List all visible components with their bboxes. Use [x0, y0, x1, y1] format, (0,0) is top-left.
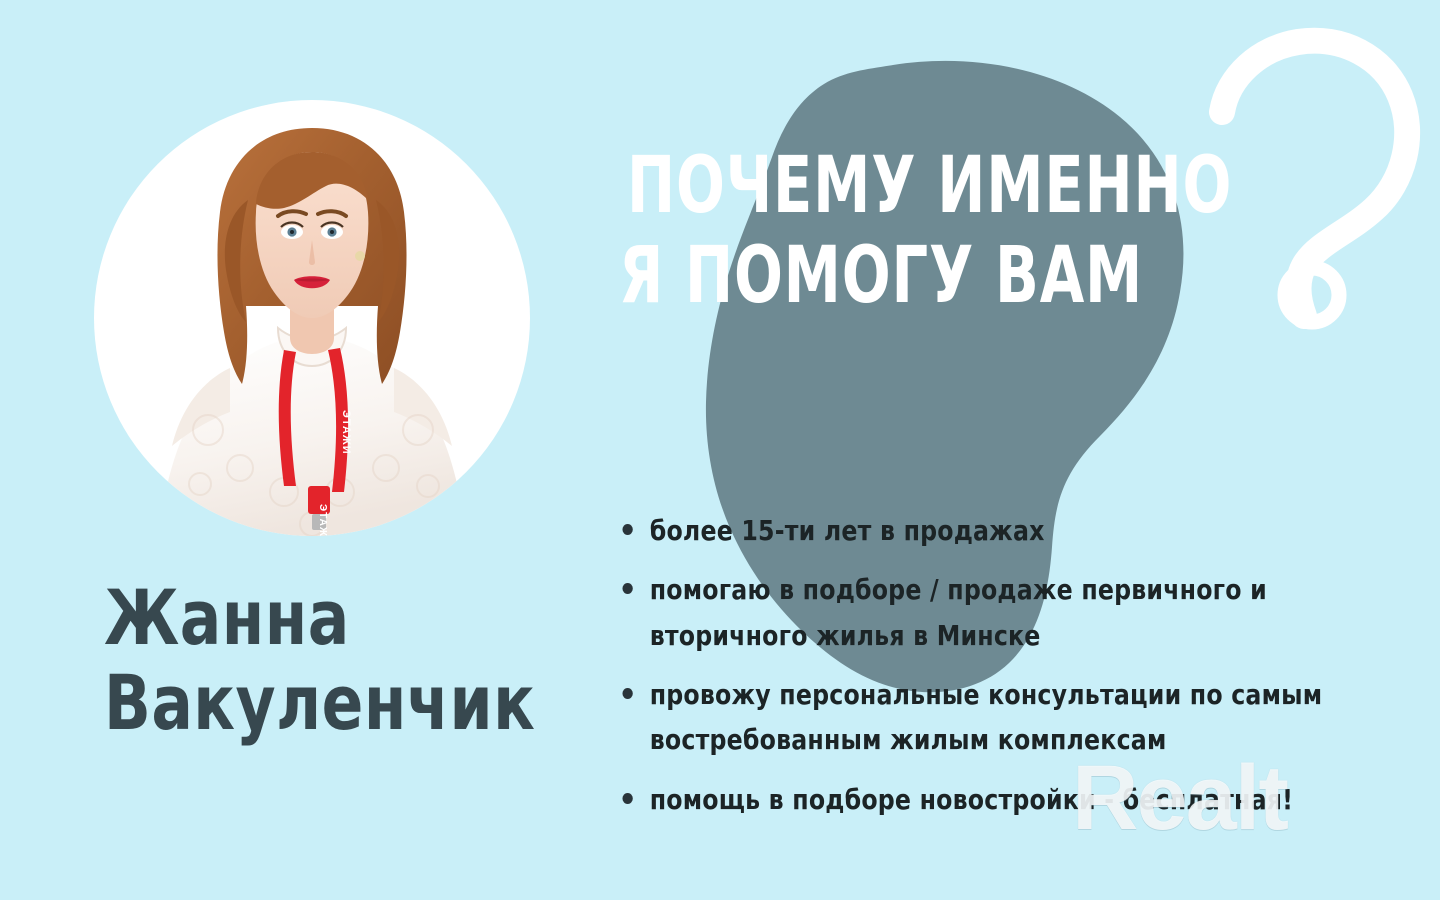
agent-name: Жанна Вакуленчик — [104, 575, 535, 745]
agent-first-name: Жанна — [104, 575, 535, 660]
agent-last-name: Вакуленчик — [104, 660, 535, 745]
list-item: помощь в подборе новостройки - бесплатна… — [614, 777, 1377, 822]
benefits-list: более 15-ти лет в продажах помогаю в под… — [614, 508, 1426, 836]
svg-text:ЭТАЖИ: ЭТАЖИ — [317, 504, 328, 536]
agent-portrait: ЭТАЖИ ЭТАЖИ — [88, 100, 536, 536]
promo-card: ЭТАЖИ ЭТАЖИ ПОЧЕМУ ИМЕННО Я ПОМОГУ ВАМ Ж… — [0, 0, 1440, 900]
list-item: провожу персональные консультации по сам… — [614, 672, 1377, 763]
page-title: ПОЧЕМУ ИМЕННО Я ПОМОГУ ВАМ — [627, 148, 1365, 315]
list-item: помогаю в подборе / продаже первичного и… — [614, 567, 1377, 658]
list-item: более 15-ти лет в продажах — [614, 508, 1377, 553]
svg-text:ЭТАЖИ: ЭТАЖИ — [340, 410, 352, 455]
headline-line-2: Я ПОМОГУ ВАМ — [619, 238, 1231, 314]
headline-line-1: ПОЧЕМУ ИМЕННО — [627, 148, 1232, 224]
